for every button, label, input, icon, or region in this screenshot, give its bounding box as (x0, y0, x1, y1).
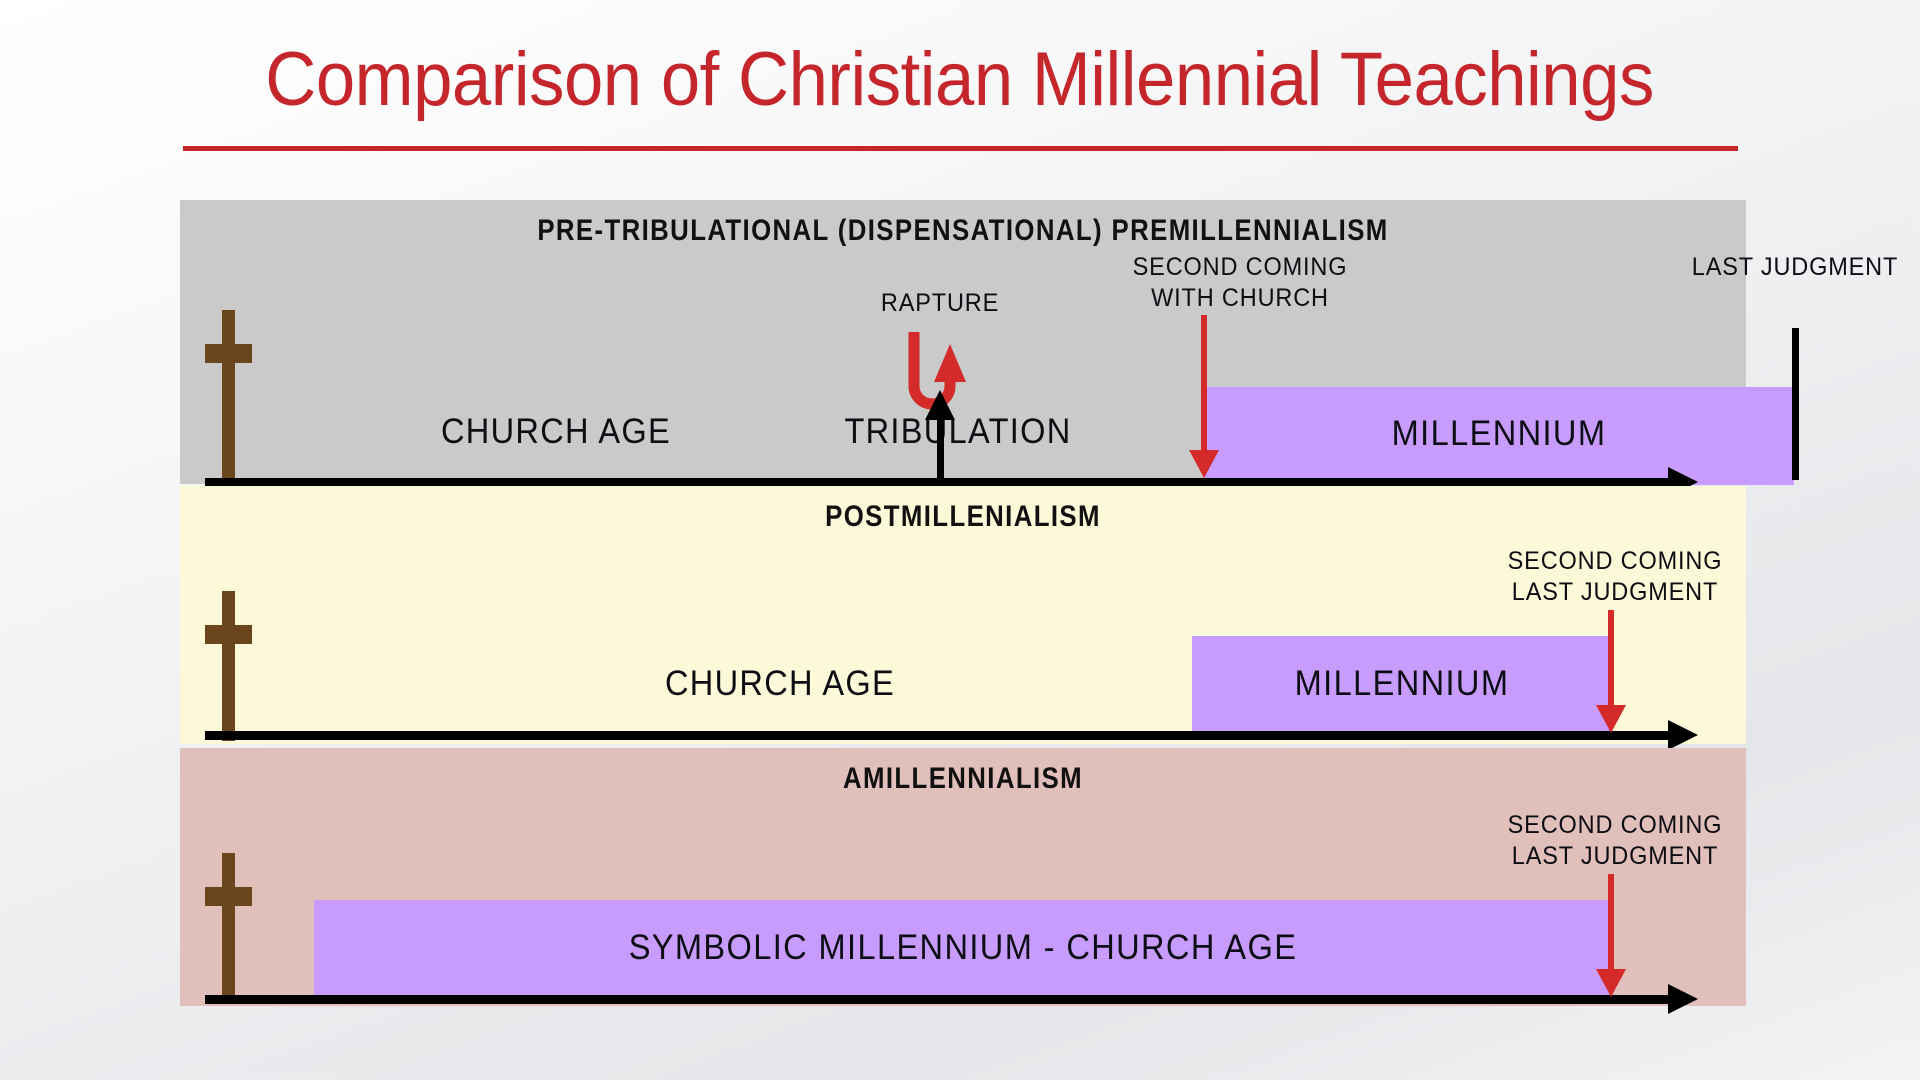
millennium-bar-post: MILLENNIUM (1192, 636, 1612, 736)
millennium-bar-label: MILLENNIUM (1225, 414, 1774, 454)
era-label-church-age-post: CHURCH AGE (594, 664, 966, 704)
event-label-amil-line1: SECOND COMING (1460, 810, 1770, 841)
cross-vertical-bar (222, 310, 235, 485)
cross-icon (205, 310, 252, 485)
event-label-rapture-line1: RAPTURE (818, 288, 1062, 319)
second-coming-arrow-head-pretrib (1189, 450, 1219, 478)
event-label-second-coming-last-judgment-post: SECOND COMING LAST JUDGMENT (1460, 546, 1770, 607)
event-label-second-coming-line1: SECOND COMING (1085, 252, 1395, 283)
second-coming-arrow-stem-post (1608, 610, 1614, 706)
page-title: Comparison of Christian Millennial Teach… (262, 42, 1658, 126)
event-label-second-coming-last-judgment-amil: SECOND COMING LAST JUDGMENT (1460, 810, 1770, 871)
cross-horizontal-bar (205, 344, 252, 363)
cross-vertical-bar (222, 853, 235, 1003)
cross-horizontal-bar (205, 625, 252, 644)
panel-heading-pretribulational: PRE-TRIBULATIONAL (DISPENSATIONAL) PREMI… (290, 214, 1637, 248)
timeline-axis-arrowhead-post (1668, 720, 1698, 750)
second-coming-arrow-head-post (1596, 705, 1626, 733)
symbolic-millennium-bar-label: SYMBOLIC MILLENNIUM - CHURCH AGE (359, 928, 1566, 968)
event-label-post-line2: LAST JUDGMENT (1460, 577, 1770, 608)
cross-icon (205, 591, 252, 741)
event-label-second-coming-with-church: SECOND COMING WITH CHURCH (1085, 252, 1395, 313)
event-label-post-line1: SECOND COMING (1460, 546, 1770, 577)
title-underline-rule (183, 146, 1738, 151)
last-judgment-tick-pretrib (1792, 328, 1799, 480)
millennium-bar-pretrib: MILLENNIUM (1204, 387, 1794, 485)
timeline-axis-post (205, 731, 1670, 740)
second-coming-arrow-head-amil (1596, 969, 1626, 997)
millennium-bar-label: MILLENNIUM (1207, 664, 1598, 704)
second-coming-arrow-stem-pretrib (1201, 315, 1207, 451)
timeline-axis-arrowhead-amil (1668, 984, 1698, 1014)
panel-amillennialism: AMILLENNIALISM SYMBOLIC MILLENNIUM - CHU… (180, 748, 1746, 1006)
title-block: Comparison of Christian Millennial Teach… (0, 42, 1920, 126)
event-label-rapture: RAPTURE (818, 288, 1062, 319)
panel-postmillenialism: POSTMILLENIALISM MILLENNIUM CHURCH AGE S… (180, 486, 1746, 744)
cross-horizontal-bar (205, 887, 252, 906)
cross-vertical-bar (222, 591, 235, 741)
rapture-axis-arrow-head (925, 390, 955, 420)
second-coming-arrow-stem-amil (1608, 874, 1614, 970)
event-label-last-judgment-line1: LAST JUDGMENT (1640, 252, 1920, 283)
rapture-axis-arrow-stem (937, 418, 944, 480)
event-label-last-judgment-pretrib: LAST JUDGMENT (1640, 252, 1920, 283)
cross-icon (205, 853, 252, 1003)
event-label-amil-line2: LAST JUDGMENT (1460, 841, 1770, 872)
panel-heading-amillennialism: AMILLENNIALISM (290, 762, 1637, 796)
symbolic-millennium-bar-amil: SYMBOLIC MILLENNIUM - CHURCH AGE (314, 900, 1612, 1000)
event-label-second-coming-line2: WITH CHURCH (1085, 283, 1395, 314)
era-label-church-age-pretrib: CHURCH AGE (370, 412, 742, 452)
timeline-axis-amil (205, 995, 1670, 1004)
panel-pretribulational-premillennialism: PRE-TRIBULATIONAL (DISPENSATIONAL) PREMI… (180, 200, 1746, 484)
panel-heading-postmillenialism: POSTMILLENIALISM (290, 500, 1637, 534)
